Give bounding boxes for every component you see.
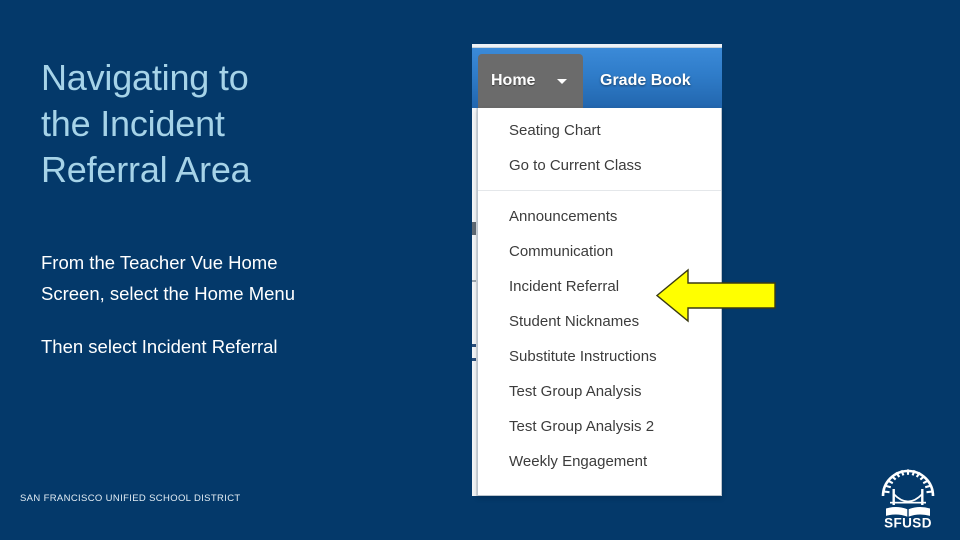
arrow-left-icon xyxy=(656,268,776,323)
slide-canvas: Navigating to the Incident Referral Area… xyxy=(0,0,960,540)
menu-item-communication[interactable]: Communication xyxy=(478,234,721,269)
sunburst-bridge-icon xyxy=(883,469,933,516)
menu-item-test-group-analysis-2[interactable]: Test Group Analysis 2 xyxy=(478,409,721,444)
dropdown-divider xyxy=(478,190,721,191)
nav-tab-home-label: Home xyxy=(491,72,535,90)
sfusd-logo: SFUSD xyxy=(871,456,945,530)
menu-item-test-group-analysis[interactable]: Test Group Analysis xyxy=(478,374,721,409)
nav-tab-grade-book-label: Grade Book xyxy=(600,72,691,90)
menu-item-announcements[interactable]: Announcements xyxy=(478,199,721,234)
footer-organization-name: SAN FRANCISCO UNIFIED SCHOOL DISTRICT xyxy=(20,493,241,504)
menu-item-weekly-engagement[interactable]: Weekly Engagement xyxy=(478,444,721,479)
instruction-paragraph-2: Then select Incident Referral xyxy=(41,331,401,362)
logo-wordmark: SFUSD xyxy=(884,516,932,531)
nav-tab-home[interactable]: Home xyxy=(478,54,583,108)
dropdown-group-secondary: Announcements Communication Incident Ref… xyxy=(478,199,721,479)
menu-item-substitute-instructions[interactable]: Substitute Instructions xyxy=(478,339,721,374)
instruction-paragraph-1: From the Teacher Vue Home Screen, select… xyxy=(41,247,401,309)
dropdown-group-primary: Seating Chart Go to Current Class xyxy=(478,108,721,183)
chevron-down-icon xyxy=(557,79,567,84)
menu-item-seating-chart[interactable]: Seating Chart xyxy=(478,113,721,148)
menu-item-go-to-current-class[interactable]: Go to Current Class xyxy=(478,148,721,183)
page-title: Navigating to the Incident Referral Area xyxy=(41,55,381,193)
teachervue-navbar: Home Grade Book xyxy=(472,48,722,108)
nav-tab-grade-book[interactable]: Grade Book xyxy=(590,54,701,108)
body-text-block: From the Teacher Vue Home Screen, select… xyxy=(41,247,401,362)
